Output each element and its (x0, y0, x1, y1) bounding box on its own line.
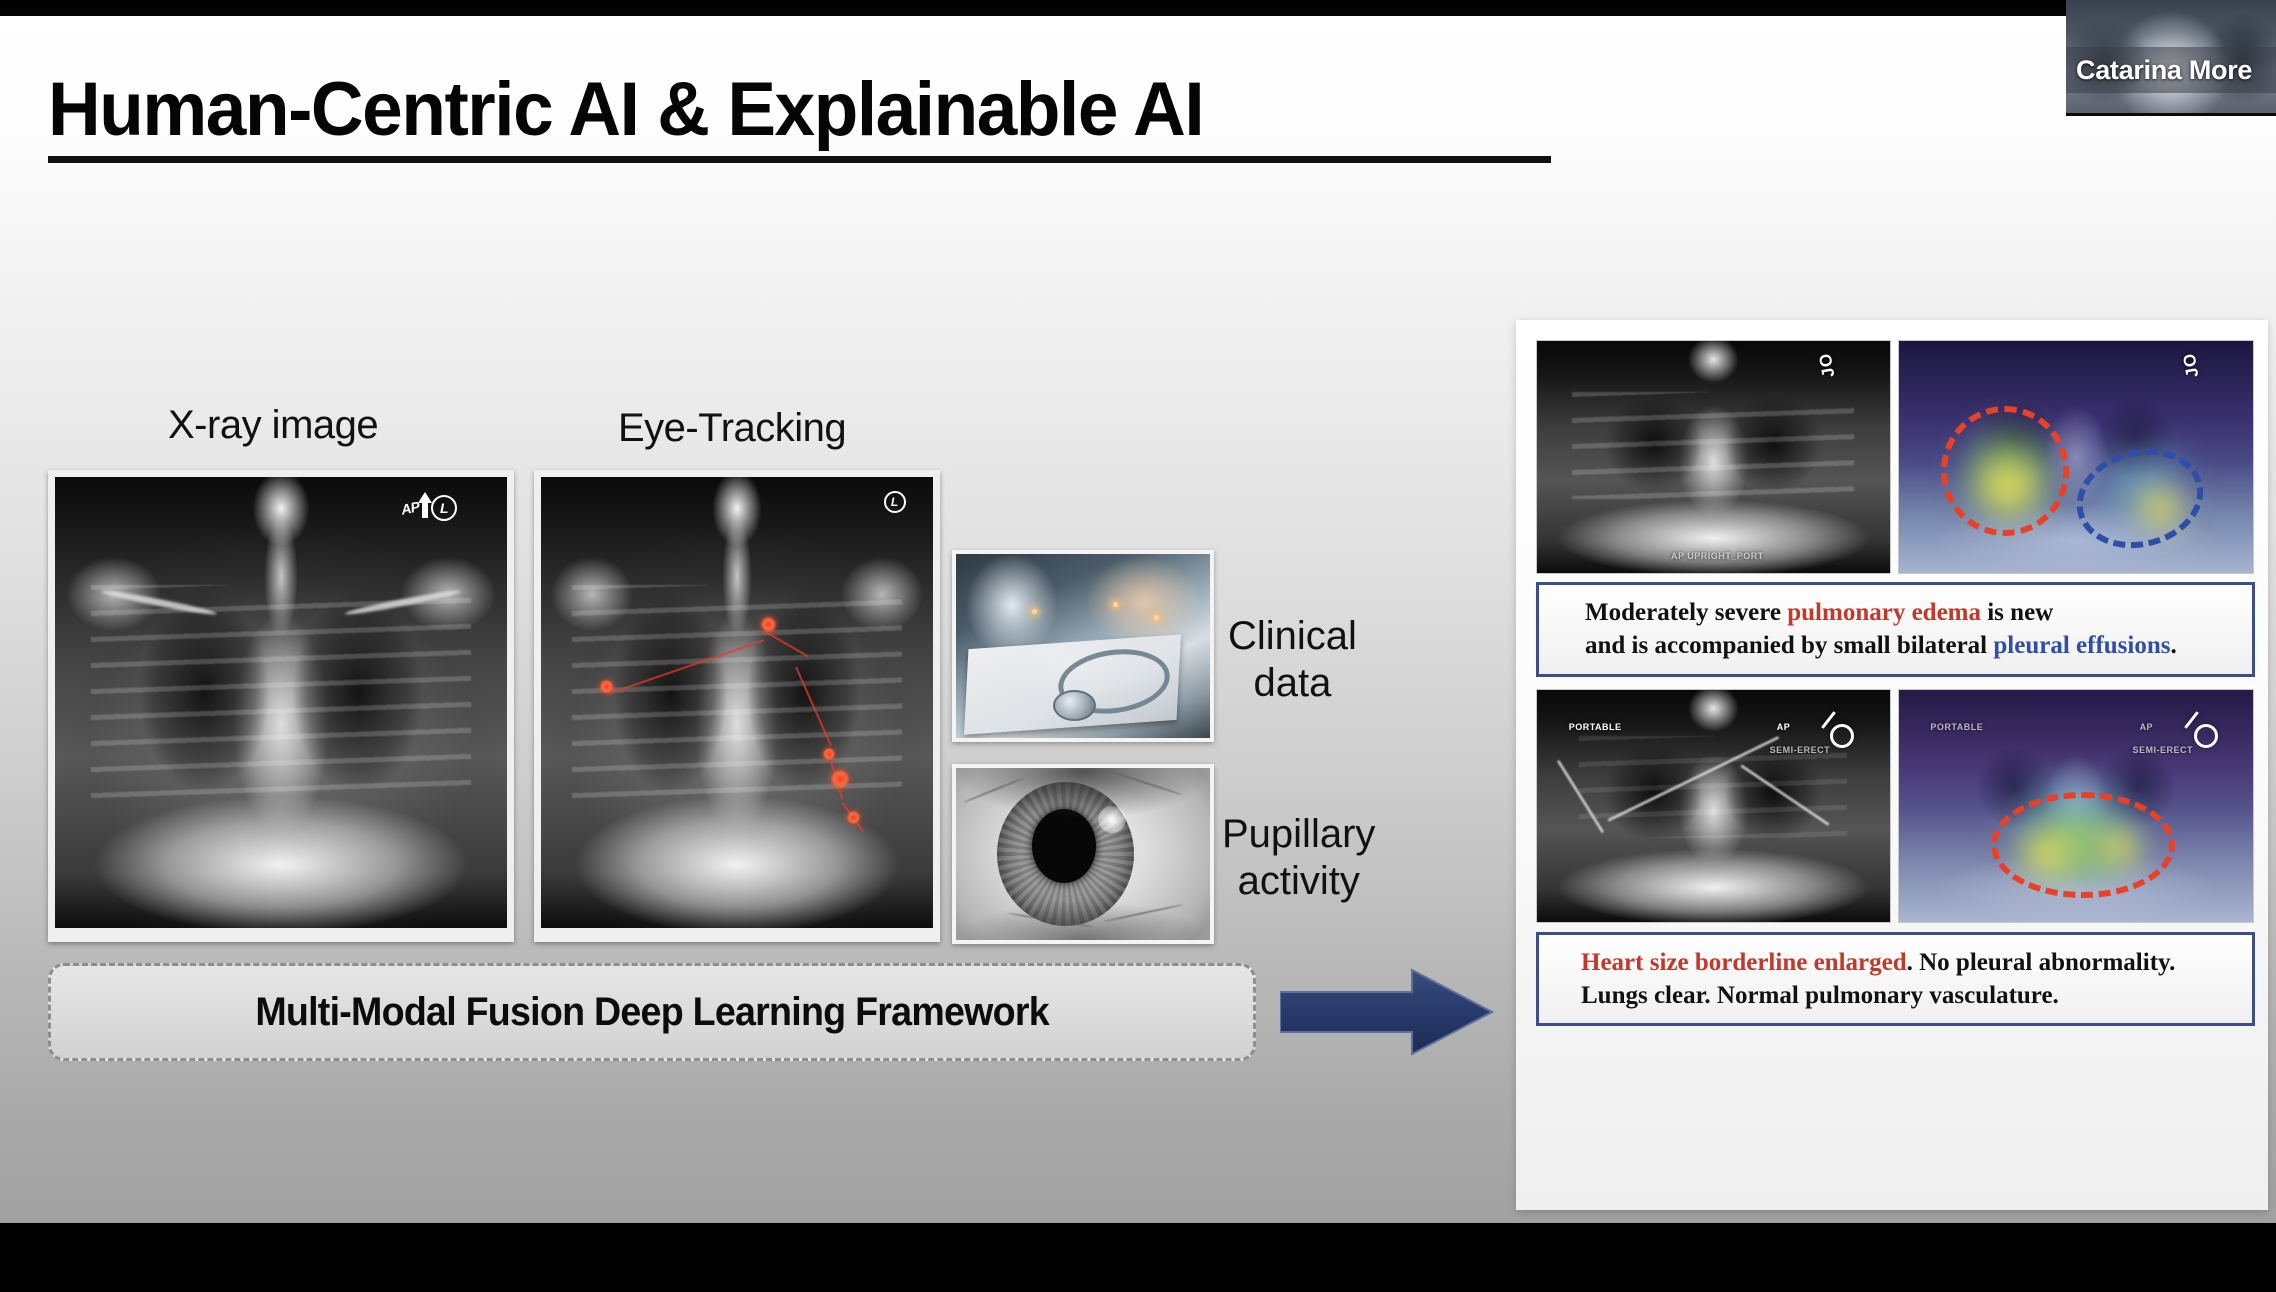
clinical-photo-graphic (956, 554, 1210, 738)
xray-input-image: AP L (48, 470, 514, 942)
gaze-link (795, 667, 832, 747)
case1-original-xray: JO AP UPRIGHT_PORT (1536, 340, 1891, 574)
screen-capture: Human-Centric AI & Explainable AI X-ray … (0, 0, 2276, 1292)
case1-heatmap-xray: JO (1898, 340, 2254, 574)
rib-texture (1572, 392, 1854, 499)
bottom-letterbox-bar (0, 1223, 2276, 1257)
finding-region-red-ellipse (1941, 406, 2069, 536)
case2-original-xray: PORTABLE AP SEMI-ERECT (1536, 689, 1891, 923)
fusion-framework-banner: Multi-Modal Fusion Deep Learning Framewo… (48, 963, 1256, 1061)
case1-report-line2-pre: and is accompanied by small bilateral (1585, 632, 1993, 659)
case2-report-box: Heart size borderline enlarged. No pleur… (1536, 932, 2255, 1027)
portable-tag: PORTABLE (1930, 722, 1983, 732)
finding-region-red-circle (1991, 792, 2175, 899)
top-letterbox-bar (0, 8, 2276, 16)
case1-image-row: JO AP UPRIGHT_PORT JO (1536, 340, 2254, 574)
case2-finding-highlight-red: Heart size borderline enlarged (1581, 949, 1907, 976)
gaze-fixation-point (823, 748, 835, 760)
clinical-data-label-line1: Clinical (1228, 613, 1357, 660)
eyetracking-canvas: L (541, 477, 933, 928)
case2-heatmap-xray: PORTABLE AP SEMI-ERECT (1898, 689, 2254, 923)
clip-marker-icon (2194, 724, 2218, 748)
orientation-marker-jo: JO (2179, 351, 2203, 379)
eye-closeup-graphic (956, 768, 1210, 940)
case2-report-line1: Heart size borderline enlarged. No pleur… (1581, 946, 2238, 979)
case1-report-line2: and is accompanied by small bilateral pl… (1585, 629, 2238, 662)
speaker-name-strip: Catarina More (2066, 47, 2276, 93)
stethoscope-chestpiece (1053, 690, 1096, 721)
case1-finding-highlight-red: pulmonary edema (1787, 599, 1981, 626)
gaze-fixation-point (761, 617, 776, 632)
pupillary-label-line2: activity (1222, 858, 1375, 905)
gaze-fixation-point (847, 811, 860, 824)
light-spark (1154, 615, 1159, 620)
title-underline (48, 156, 1551, 163)
results-panel: JO AP UPRIGHT_PORT JO Moderately severe … (1516, 320, 2268, 1210)
portable-tag: PORTABLE (1569, 722, 1622, 732)
gaze-fixation-point (600, 680, 613, 693)
light-spark (1032, 609, 1037, 614)
rib-texture (91, 585, 471, 801)
gaze-fixation-point (831, 770, 849, 788)
eyelid-shadow (956, 768, 1210, 940)
speaker-name-label: Catarina More (2066, 55, 2252, 86)
xray-footer-tag: AP UPRIGHT_PORT (1671, 551, 1764, 561)
xray-image-label: X-ray image (168, 403, 378, 448)
presentation-slide: Human-Centric AI & Explainable AI X-ray … (0, 8, 2276, 1257)
position-tag: SEMI-ERECT (2132, 745, 2193, 755)
pupillary-activity-label: Pupillary activity (1222, 811, 1375, 905)
gaze-scanpath-overlay (541, 477, 933, 928)
clinical-data-photo (952, 550, 1214, 742)
radiograph-marker-group: AP L (401, 495, 457, 521)
position-tag: SEMI-ERECT (1770, 745, 1831, 755)
clinical-data-label-line2: data (1228, 660, 1357, 707)
flow-arrow-right-icon (1280, 968, 1494, 1056)
case2-report-line1-post: . No pleural abnormality. (1907, 949, 2176, 976)
eye-tracking-label: Eye-Tracking (618, 406, 846, 451)
case1-report-line1-pre: Moderately severe (1585, 599, 1787, 626)
page-title: Human-Centric AI & Explainable AI (48, 70, 1507, 150)
case1-report-box: Moderately severe pulmonary edema is new… (1536, 582, 2255, 677)
case1-report-line1: Moderately severe pulmonary edema is new (1585, 596, 2238, 629)
projection-tag: AP (2140, 722, 2154, 732)
case1-report-line1-post: is new (1981, 599, 2053, 626)
fusion-framework-label: Multi-Modal Fusion Deep Learning Framewo… (255, 990, 1049, 1035)
laterality-l-marker-icon: L (431, 495, 457, 521)
projection-tag: AP (1777, 722, 1791, 732)
light-spark (1113, 602, 1118, 607)
xray-canvas: AP L (55, 477, 507, 928)
case2-report-line2: Lungs clear. Normal pulmonary vasculatur… (1581, 979, 2238, 1012)
eye-tracking-overlay-image: L (534, 470, 940, 942)
gaze-link (607, 640, 763, 695)
case2-image-row: PORTABLE AP SEMI-ERECT (1536, 689, 2254, 923)
clinical-data-label: Clinical data (1228, 613, 1357, 707)
case1-report-line2-post: . (2170, 632, 2176, 659)
speaker-video-thumbnail[interactable]: Catarina More (2066, 0, 2276, 116)
pupillary-label-line1: Pupillary (1222, 811, 1375, 858)
case1-finding-highlight-blue: pleural effusions (1993, 632, 2170, 659)
gaze-link (764, 630, 809, 657)
pupillary-activity-photo (952, 764, 1214, 944)
slide-title-block: Human-Centric AI & Explainable AI (48, 70, 1568, 163)
